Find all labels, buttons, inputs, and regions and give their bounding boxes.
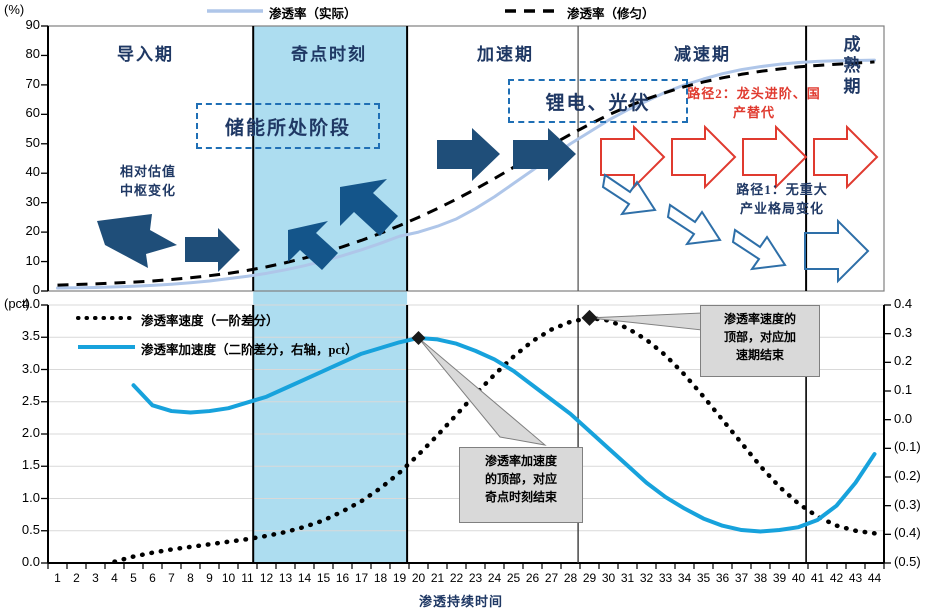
red-arrow-2 xyxy=(672,127,735,187)
bottom-y-tick-label: 3.0 xyxy=(0,361,40,376)
bottom-y2-tick-label: 0.1 xyxy=(894,382,942,397)
phase-label-maturity: 成熟期 xyxy=(843,34,861,97)
relative-valuation-note: 相对估值 中枢变化 xyxy=(88,162,208,200)
red-arrow-group xyxy=(601,127,877,187)
top-y-tick-label: 60 xyxy=(2,105,40,120)
path2-line2: 产替代 xyxy=(668,103,840,122)
path1-note: 路径1：无重大 产业格局变化 xyxy=(707,180,857,218)
velocity-peak-marker xyxy=(582,310,598,326)
phase-label-introduction: 导入期 xyxy=(117,40,174,65)
phase-label-acceleration: 加速期 xyxy=(477,40,534,65)
path1-line2: 产业格局变化 xyxy=(707,199,857,218)
top-y-tick-label: 90 xyxy=(2,17,40,32)
bottom-y-tick-label: 3.5 xyxy=(0,328,40,343)
top-y-tick-label: 0 xyxy=(2,282,40,297)
bottom-y2-tick-label: 0.2 xyxy=(894,353,942,368)
storage-stage-box: 储能所处阶段 xyxy=(196,103,380,149)
accel-callout-line3: 奇点时刻结束 xyxy=(465,488,577,506)
vel-callout-line2: 顶部，对应加 xyxy=(706,328,814,346)
red-arrow-4 xyxy=(814,127,877,187)
top-axis-unit: (%) xyxy=(4,2,24,17)
top-y-tick-label: 50 xyxy=(2,135,40,150)
bottom-y-tick-label: 0.5 xyxy=(0,522,40,537)
bottom-y2-tick-label: (0.4) xyxy=(894,525,942,540)
bottom-y2-tick-label: (0.1) xyxy=(894,439,942,454)
bottom-y2-tick-label: (0.3) xyxy=(894,497,942,512)
phase-label-deceleration: 减速期 xyxy=(674,40,731,65)
top-y-tick-label: 80 xyxy=(2,46,40,61)
navy-arrow-5 xyxy=(437,128,500,181)
bottom-y-tick-label: 2.5 xyxy=(0,393,40,408)
x-axis-title: 渗透持续时间 xyxy=(419,591,503,610)
path2-note: 路径2：龙头进阶、国 产替代 xyxy=(668,84,840,122)
vel-callout-line1: 渗透率速度的 xyxy=(706,310,814,328)
path1-line1: 路径1：无重大 xyxy=(707,180,857,199)
navy-arrow-2 xyxy=(185,228,240,272)
legend-label-acceleration: 渗透率加速度（二阶差分，右轴，pct） xyxy=(141,339,358,358)
blue-arrow-4 xyxy=(805,221,868,281)
bottom-y2-tick-label: 0.0 xyxy=(894,411,942,426)
blue-arrow-3 xyxy=(733,230,785,269)
acceleration-peak-callout: 渗透率加速度 的顶部，对应 奇点时刻结束 xyxy=(459,447,583,523)
top-y-tick-label: 10 xyxy=(2,253,40,268)
lithium-pv-box: 锂电、光伏 xyxy=(508,79,688,123)
velocity-peak-callout: 渗透率速度的 顶部，对应加 速期结束 xyxy=(700,305,820,377)
relative-valuation-line1: 相对估值 xyxy=(88,162,208,181)
x-tick-label: 44 xyxy=(863,571,887,585)
relative-valuation-line2: 中枢变化 xyxy=(88,181,208,200)
bottom-y-tick-label: 0.0 xyxy=(0,554,40,569)
bottom-panel-y2-ticks xyxy=(884,305,891,563)
top-y-tick-label: 30 xyxy=(2,194,40,209)
bottom-y2-tick-label: (0.5) xyxy=(894,554,942,569)
accel-callout-line1: 渗透率加速度 xyxy=(465,452,577,470)
vel-callout-line3: 速期结束 xyxy=(706,346,814,364)
accel-callout-line2: 的顶部，对应 xyxy=(465,470,577,488)
legend-label-velocity: 渗透率速度（一阶差分） xyxy=(141,310,279,329)
legend-label-smoothed: 渗透率（修匀） xyxy=(567,3,655,22)
top-y-tick-label: 70 xyxy=(2,76,40,91)
bottom-y2-tick-label: (0.2) xyxy=(894,468,942,483)
lithium-pv-label: 锂电、光伏 xyxy=(545,88,650,115)
blue-arrow-1 xyxy=(603,175,655,214)
bottom-y-tick-label: 2.0 xyxy=(0,425,40,440)
top-y-tick-label: 40 xyxy=(2,164,40,179)
top-panel-y-ticks xyxy=(41,26,48,291)
path2-line1: 路径2：龙头进阶、国 xyxy=(668,84,840,103)
top-y-tick-label: 20 xyxy=(2,223,40,238)
bottom-y-tick-label: 1.0 xyxy=(0,490,40,505)
storage-stage-label: 储能所处阶段 xyxy=(225,113,351,140)
legend-label-actual: 渗透率（实际） xyxy=(269,3,357,22)
bottom-y-tick-label: 4.0 xyxy=(0,296,40,311)
bottom-y2-tick-label: 0.3 xyxy=(894,325,942,340)
phase-label-singularity: 奇点时刻 xyxy=(291,40,367,65)
red-arrow-3 xyxy=(743,127,806,187)
bottom-panel-y-ticks xyxy=(41,305,48,563)
bottom-y2-tick-label: 0.4 xyxy=(894,296,942,311)
bottom-y-tick-label: 1.5 xyxy=(0,457,40,472)
navy-arrow-1 xyxy=(97,214,177,268)
chart-root: (%) (pct) 渗透率（实际） 渗透率（修匀） 渗透率速度（一阶差分） 渗透… xyxy=(0,0,946,613)
